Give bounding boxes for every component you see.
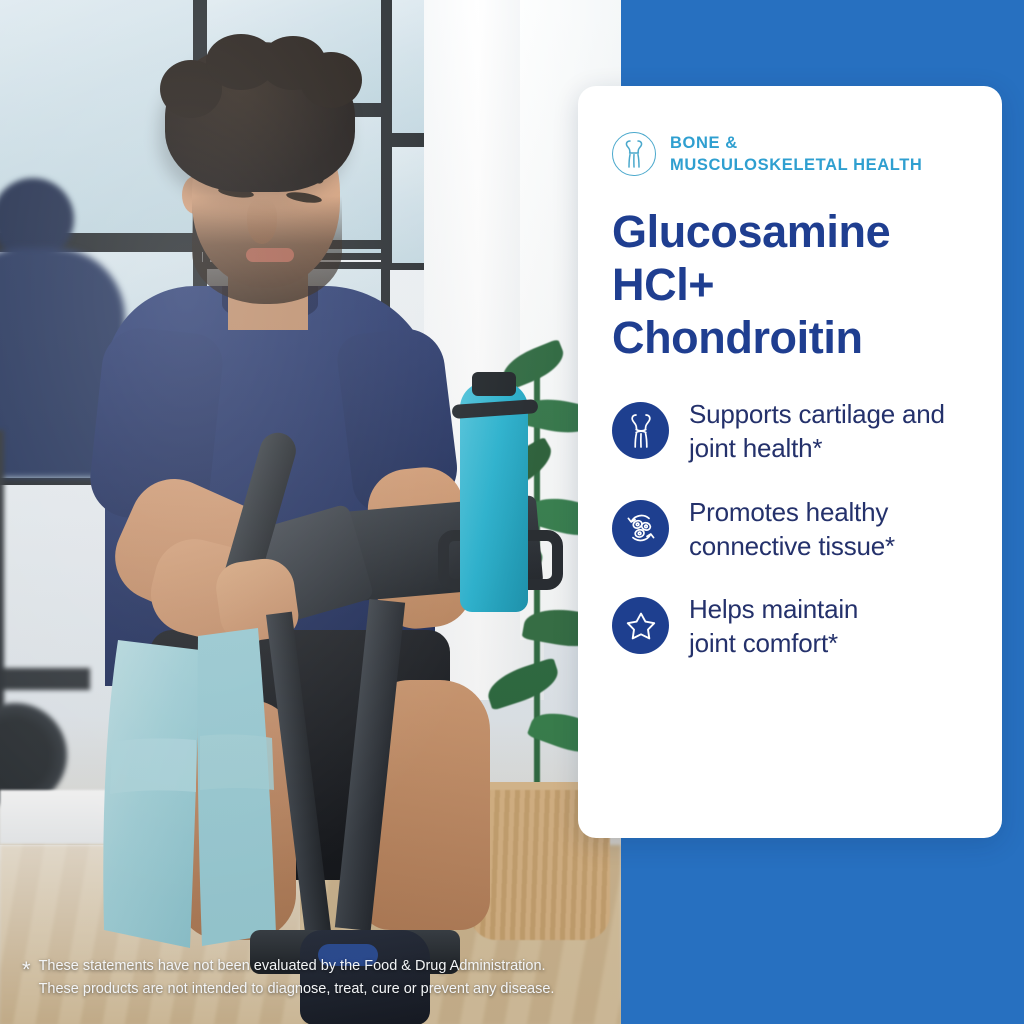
disclaimer-line-1: These statements have not been evaluated… [39, 958, 546, 974]
benefit-3-line-2: joint comfort* [689, 628, 838, 658]
benefit-label: Promotes healthy connective tissue* [689, 496, 895, 564]
title-line-1: Glucosamine [612, 206, 890, 257]
benefit-item: Supports cartilage and joint health* [612, 398, 968, 466]
benefit-3-line-1: Helps maintain [689, 594, 858, 624]
benefit-list: Supports cartilage and joint health* [612, 398, 968, 661]
bone-joint-icon [612, 132, 656, 176]
benefit-1-line-1: Supports cartilage [689, 399, 895, 429]
page-title: Glucosamine HCl+ Chondroitin [612, 206, 968, 364]
benefit-2-line-2: connective tissue* [689, 531, 895, 561]
disclaimer-asterisk: * [22, 959, 31, 981]
title-line-2: HCl+ [612, 259, 714, 310]
benefit-1-line-2: and [902, 399, 945, 429]
category-header: BONE & MUSCULOSKELETAL HEALTH [612, 132, 968, 176]
benefit-item: Promotes healthy connective tissue* [612, 496, 968, 564]
disclaimer-line-2: These products are not intended to diagn… [39, 981, 555, 997]
knee-joint-icon [612, 402, 669, 459]
category-line-1: BONE & [670, 134, 738, 152]
benefit-1-line-3: joint health* [689, 433, 822, 463]
star-icon [612, 597, 669, 654]
benefit-label: Helps maintain joint comfort* [689, 593, 858, 661]
disclaimer-text: These statements have not been evaluated… [39, 955, 555, 1002]
benefit-item: Helps maintain joint comfort* [612, 593, 968, 661]
benefit-2-line-1: Promotes healthy [689, 497, 888, 527]
lifestyle-photo [0, 0, 621, 1024]
cell-regeneration-icon [612, 500, 669, 557]
category-line-2: MUSCULOSKELETAL HEALTH [670, 156, 922, 174]
promo-graphic: BONE & MUSCULOSKELETAL HEALTH Glucosamin… [0, 0, 1024, 1024]
benefit-label: Supports cartilage and joint health* [689, 398, 945, 466]
product-info-card: BONE & MUSCULOSKELETAL HEALTH Glucosamin… [578, 86, 1002, 838]
title-line-3: Chondroitin [612, 312, 863, 363]
fda-disclaimer: * These statements have not been evaluat… [22, 955, 612, 1002]
gym-towel [0, 0, 621, 1024]
category-label: BONE & MUSCULOSKELETAL HEALTH [670, 132, 922, 176]
